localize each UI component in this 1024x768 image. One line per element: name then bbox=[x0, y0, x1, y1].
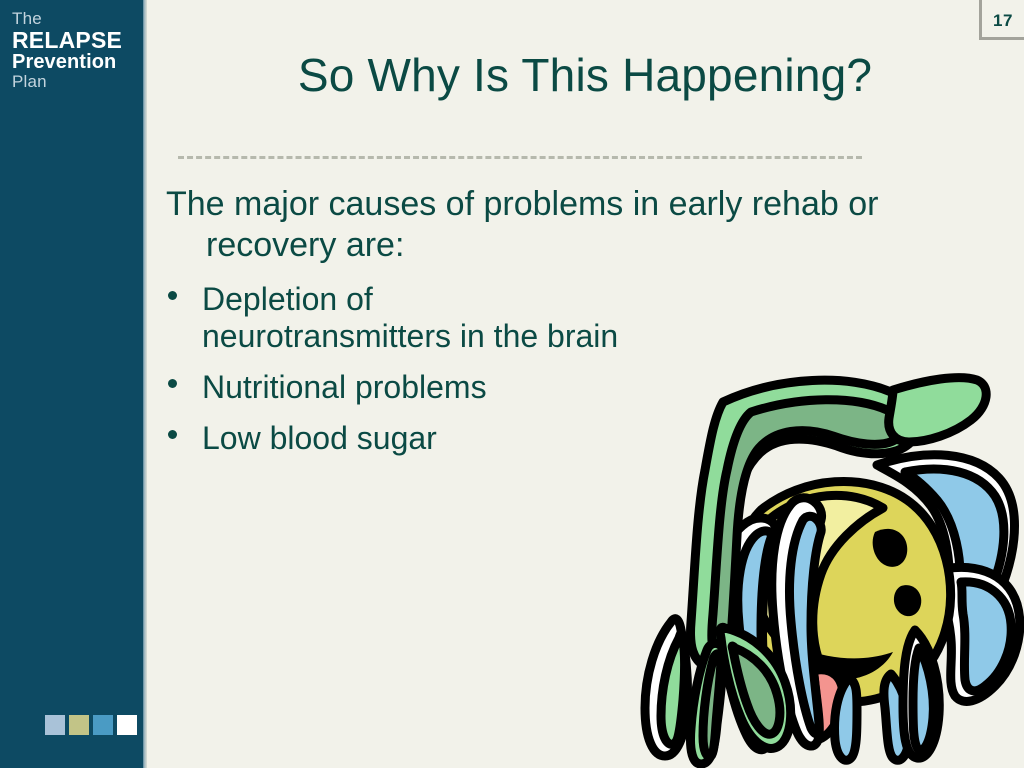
bullet-dot-icon bbox=[168, 430, 177, 439]
bullet-dot-icon bbox=[168, 379, 177, 388]
list-item: Depletion of neurotransmitters in the br… bbox=[160, 281, 622, 355]
list-item-label: Depletion of neurotransmitters in the br… bbox=[202, 281, 618, 354]
list-item-label: Nutritional problems bbox=[202, 369, 487, 405]
swatch-khaki bbox=[69, 715, 89, 735]
list-item: Nutritional problems bbox=[160, 369, 622, 406]
title-divider bbox=[178, 156, 862, 159]
logo-line-plan: Plan bbox=[12, 73, 142, 91]
lead-paragraph: The major causes of problems in early re… bbox=[160, 184, 1008, 267]
sidebar-edge-divider bbox=[143, 0, 147, 768]
list-item-label: Low blood sugar bbox=[202, 420, 437, 456]
page-number-badge: 17 bbox=[979, 0, 1024, 40]
sidebar: The RELAPSE Prevention Plan bbox=[0, 0, 143, 768]
slide: The RELAPSE Prevention Plan 17 So Why Is… bbox=[0, 0, 1024, 768]
swatch-blue bbox=[93, 715, 113, 735]
logo-line-the: The bbox=[12, 10, 142, 28]
wilting-flower-illustration bbox=[575, 360, 1024, 768]
logo-line-relapse: RELAPSE bbox=[12, 29, 142, 53]
bullet-dot-icon bbox=[168, 291, 177, 300]
color-swatch-row bbox=[45, 715, 137, 735]
lead-line-1: The major causes of problems in early re… bbox=[166, 185, 878, 223]
brand-logo: The RELAPSE Prevention Plan bbox=[12, 10, 142, 91]
page-number: 17 bbox=[993, 11, 1013, 31]
list-item: Low blood sugar bbox=[160, 420, 622, 457]
logo-line-prevention: Prevention bbox=[12, 52, 142, 73]
swatch-white bbox=[117, 715, 137, 735]
lead-line-2: recovery are: bbox=[160, 225, 1008, 266]
swatch-light-blue bbox=[45, 715, 65, 735]
slide-title: So Why Is This Happening? bbox=[175, 48, 995, 102]
